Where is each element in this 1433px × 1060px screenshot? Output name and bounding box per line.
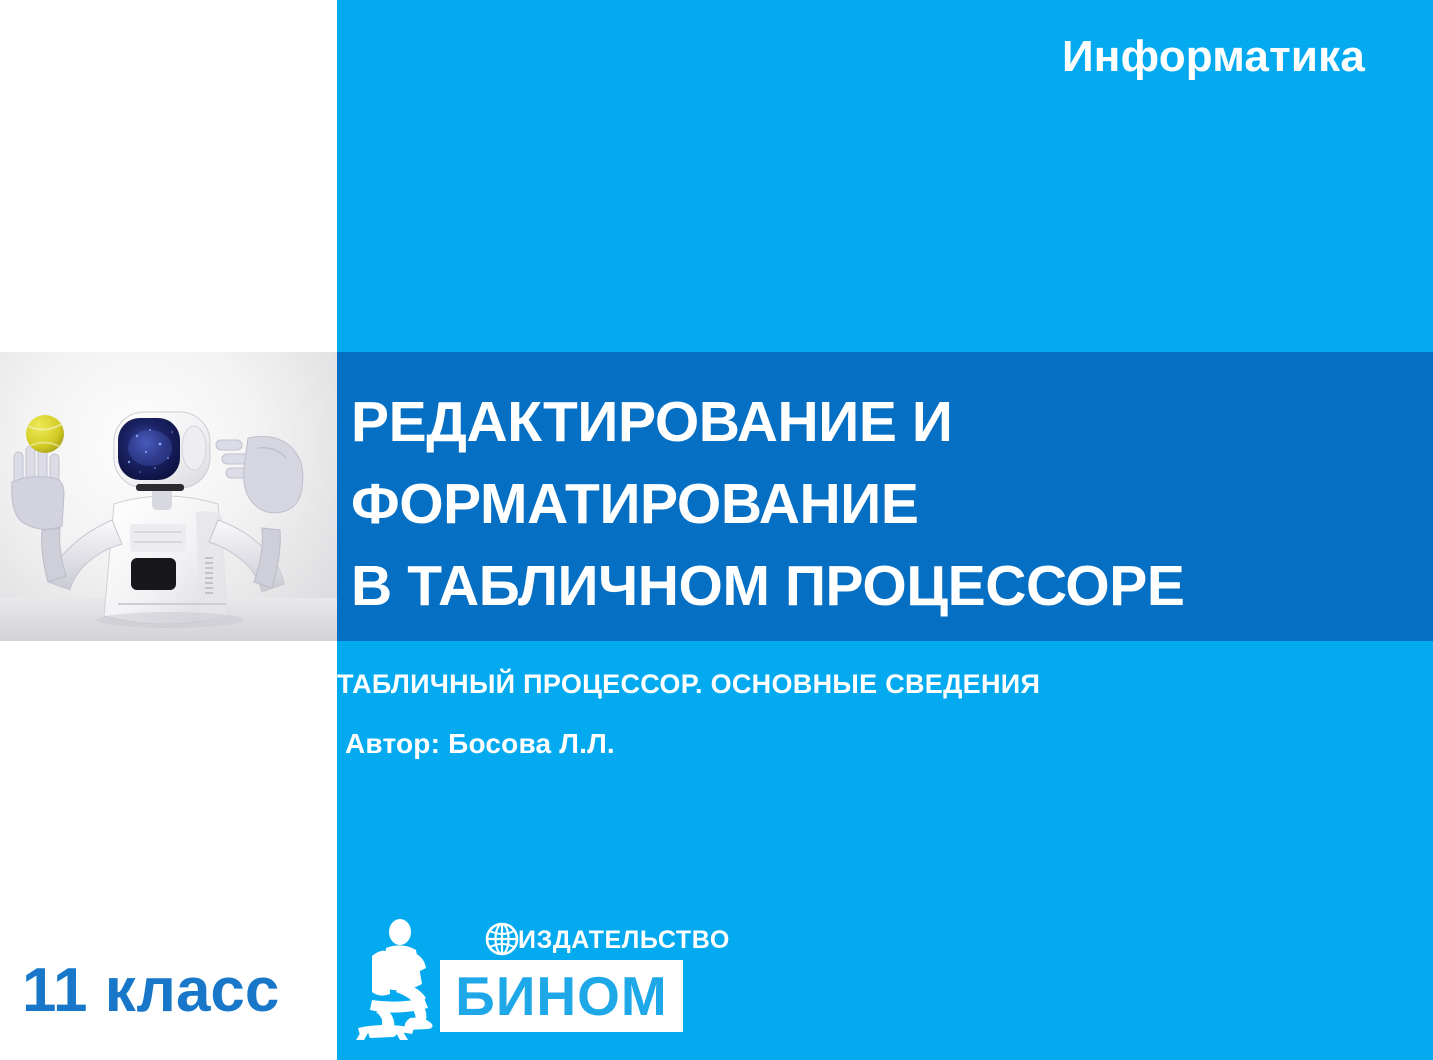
- page-subtitle: ТАБЛИЧНЫЙ ПРОЦЕССОР. ОСНОВНЫЕ СВЕДЕНИЯ: [337, 669, 1040, 700]
- grade-label: 11 класс: [22, 955, 279, 1026]
- page-title-line-3: В ТАБЛИЧНОМ ПРОЦЕССОРЕ: [351, 545, 1433, 627]
- subject-title: Информатика: [1062, 34, 1365, 80]
- publisher-logo: ИЗДАТЕЛЬСТВО БИНОМ: [352, 918, 687, 1040]
- publisher-word: ИЗДАТЕЛЬСТВО: [518, 926, 730, 955]
- robot-photo: [0, 352, 337, 641]
- globe-icon: [484, 921, 520, 957]
- page-title-line-1: РЕДАКТИРОВАНИЕ И: [351, 381, 1433, 463]
- author-line: Автор: Босова Л.Л.: [345, 728, 615, 760]
- presentation-slide: Информатика РЕДАКТИРОВАНИЕ И ФОРМАТИРОВА…: [0, 0, 1433, 1060]
- page-title: РЕДАКТИРОВАНИЕ И ФОРМАТИРОВАНИЕ В ТАБЛИЧ…: [351, 381, 1433, 627]
- brand-name: БИНОМ: [455, 969, 667, 1024]
- brand-box: БИНОМ: [440, 960, 683, 1032]
- page-title-line-2: ФОРМАТИРОВАНИЕ: [351, 463, 1433, 545]
